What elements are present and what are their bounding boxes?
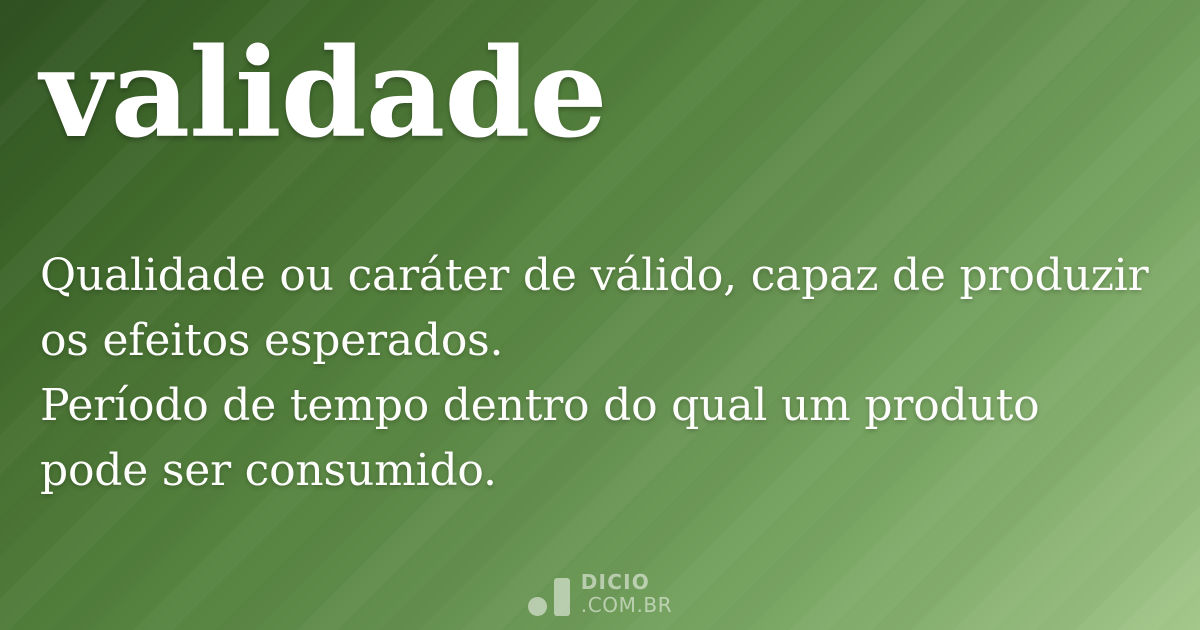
page-title: validade bbox=[40, 28, 607, 161]
dicio-logo: DICIO .COM.BR bbox=[0, 572, 1200, 616]
circle-mark-icon bbox=[528, 597, 547, 616]
brand-tld: .COM.BR bbox=[581, 595, 673, 615]
bar-mark-icon bbox=[554, 578, 570, 616]
definition-item: Qualidade ou caráter de válido, capaz de… bbox=[40, 243, 1160, 373]
dicio-logo-text: DICIO .COM.BR bbox=[581, 572, 673, 616]
dictionary-entry-card: validade Qualidade ou caráter de válido,… bbox=[0, 0, 1200, 630]
dicio-logo-mark bbox=[528, 576, 570, 616]
definition-list: Qualidade ou caráter de válido, capaz de… bbox=[40, 243, 1160, 503]
brand-name: DICIO bbox=[581, 572, 673, 592]
definition-item: Período de tempo dentro do qual um produ… bbox=[40, 373, 1160, 503]
